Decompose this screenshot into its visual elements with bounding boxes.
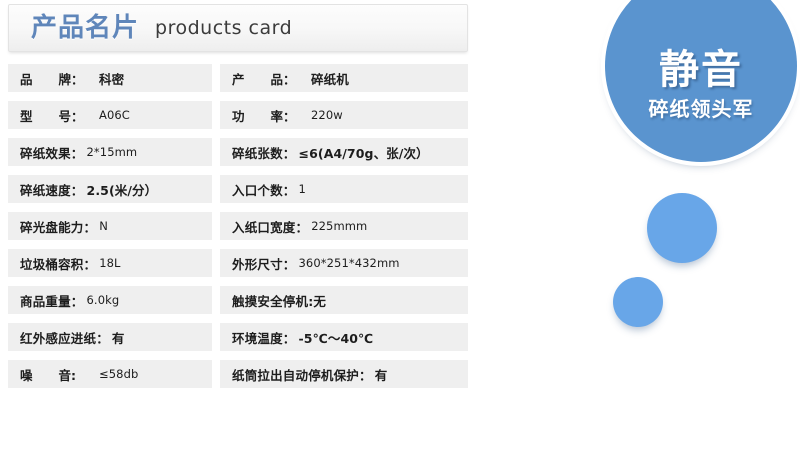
spec-label: 外形尺寸：: [232, 254, 296, 273]
decorative-circle-medium: [647, 193, 717, 263]
spec-label: 触摸安全停机:无: [232, 291, 326, 310]
spec-cell: 入口个数：1: [220, 175, 468, 203]
spec-value: 碎纸机: [311, 69, 349, 88]
quiet-badge: 静音 碎纸领头军: [605, 0, 797, 162]
table-row: 商品重量：6.0kg触摸安全停机:无: [8, 286, 468, 314]
spec-value: 科密: [99, 69, 124, 88]
table-row: 噪音:≤58db纸筒拉出自动停机保护：有: [8, 360, 468, 388]
table-row: 碎纸速度：2.5(米/分）入口个数：1: [8, 175, 468, 203]
table-row: 碎光盘能力：N入纸口宽度：225mmm: [8, 212, 468, 240]
spec-value: 18L: [99, 256, 120, 270]
decorative-circle-small: [613, 277, 663, 327]
spec-cell: 产品：碎纸机: [220, 64, 468, 92]
spec-cell: 外形尺寸：360*251*432mm: [220, 249, 468, 277]
spec-value: 225mmm: [311, 219, 367, 233]
quiet-badge-main-text: 静音: [659, 50, 743, 90]
spec-label: 纸筒拉出自动停机保护：: [232, 365, 372, 384]
spec-value: 220w: [311, 108, 343, 122]
spec-label: 碎纸效果：: [20, 143, 84, 162]
product-spec-card-page: 产品名片 products card 品牌：科密产品：碎纸机型号：A06C功率：…: [0, 0, 800, 465]
spec-cell: 碎光盘能力：N: [8, 212, 212, 240]
spec-cell: 商品重量：6.0kg: [8, 286, 212, 314]
table-row: 红外感应进纸：有环境温度：-5℃～40℃: [8, 323, 468, 351]
spec-label: 型号：: [20, 106, 96, 125]
table-row: 型号：A06C功率：220w: [8, 101, 468, 129]
spec-value: 2.5(米/分）: [87, 180, 158, 199]
spec-cell: 触摸安全停机:无: [220, 286, 468, 314]
spec-cell: 碎纸速度：2.5(米/分）: [8, 175, 212, 203]
spec-label: 入纸口宽度：: [232, 217, 308, 236]
spec-value: 1: [299, 182, 306, 196]
spec-label: 垃圾桶容积：: [20, 254, 96, 273]
spec-cell: 红外感应进纸：有: [8, 323, 212, 351]
spec-label: 商品重量：: [20, 291, 84, 310]
spec-value: -5℃～40℃: [299, 328, 374, 347]
spec-cell: 纸筒拉出自动停机保护：有: [220, 360, 468, 388]
page-title-en: products card: [155, 19, 292, 38]
spec-value: N: [99, 219, 108, 233]
spec-label: 入口个数：: [232, 180, 296, 199]
spec-cell: 型号：A06C: [8, 101, 212, 129]
spec-label: 产品：: [232, 69, 308, 88]
spec-cell: 碎纸张数：≤6(A4/70g、张/次）: [220, 138, 468, 166]
spec-cell: 噪音:≤58db: [8, 360, 212, 388]
spec-value: 有: [112, 328, 125, 347]
table-row: 碎纸效果：2*15mm碎纸张数：≤6(A4/70g、张/次）: [8, 138, 468, 166]
spec-cell: 垃圾桶容积：18L: [8, 249, 212, 277]
spec-cell: 环境温度：-5℃～40℃: [220, 323, 468, 351]
promo-artwork: 静音 碎纸领头军: [560, 0, 800, 465]
spec-value: 6.0kg: [87, 293, 120, 307]
spec-label: 碎纸张数：: [232, 143, 296, 162]
spec-cell: 碎纸效果：2*15mm: [8, 138, 212, 166]
spec-cell: 功率：220w: [220, 101, 468, 129]
spec-label: 红外感应进纸：: [20, 328, 109, 347]
header-banner: 产品名片 products card: [8, 4, 468, 52]
quiet-badge-sub-text: 碎纸领头军: [649, 99, 754, 119]
page-title-cn: 产品名片: [31, 15, 139, 41]
spec-label: 噪音:: [20, 365, 96, 384]
specification-table: 品牌：科密产品：碎纸机型号：A06C功率：220w碎纸效果：2*15mm碎纸张数…: [8, 64, 468, 397]
spec-value: A06C: [99, 108, 130, 122]
spec-label: 碎纸速度：: [20, 180, 84, 199]
spec-label: 功率：: [232, 106, 308, 125]
spec-value: 2*15mm: [87, 145, 138, 159]
spec-label: 环境温度：: [232, 328, 296, 347]
spec-cell: 品牌：科密: [8, 64, 212, 92]
spec-cell: 入纸口宽度：225mmm: [220, 212, 468, 240]
spec-value: 360*251*432mm: [299, 256, 400, 270]
spec-label: 碎光盘能力：: [20, 217, 96, 236]
table-row: 垃圾桶容积：18L外形尺寸：360*251*432mm: [8, 249, 468, 277]
spec-value: ≤6(A4/70g、张/次）: [299, 143, 429, 162]
spec-value: 有: [375, 365, 388, 384]
table-row: 品牌：科密产品：碎纸机: [8, 64, 468, 92]
spec-value: ≤58db: [99, 367, 138, 381]
spec-label: 品牌：: [20, 69, 96, 88]
